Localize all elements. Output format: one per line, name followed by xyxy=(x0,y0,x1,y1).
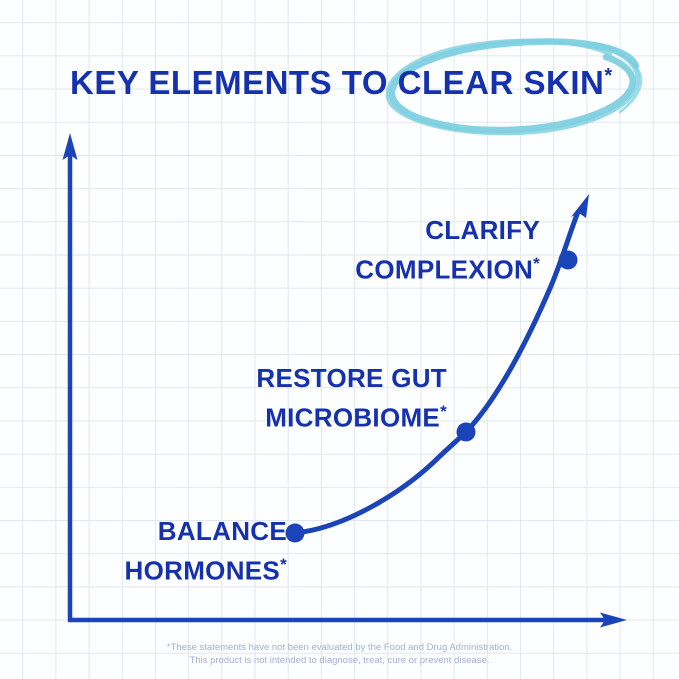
x-axis xyxy=(68,613,627,628)
data-label-balance-hormones: BALANCE HORMONES* xyxy=(125,515,287,588)
page-title: KEY ELEMENTS TO CLEAR SKIN* xyxy=(70,66,612,99)
data-label-hormones-asterisk: * xyxy=(280,555,287,574)
data-label-hormones-line2-wrap: HORMONES* xyxy=(125,548,287,588)
data-point-restore-gut xyxy=(457,423,476,442)
chart-title-text: KEY ELEMENTS TO CLEAR SKIN* xyxy=(70,66,612,99)
chart-title-asterisk: * xyxy=(604,65,612,87)
y-axis xyxy=(63,133,78,621)
footer-disclaimer-line1: *These statements have not been evaluate… xyxy=(0,641,679,654)
footer-disclaimer-line2: This product is not intended to diagnose… xyxy=(0,654,679,667)
data-label-clarify-line1: CLARIFY xyxy=(355,214,540,247)
data-label-clarify-line2: COMPLEXION xyxy=(355,255,533,285)
data-label-hormones-line1: BALANCE xyxy=(125,515,287,548)
data-point-balance-hormones xyxy=(286,524,305,543)
data-label-clarify-line2-wrap: COMPLEXION* xyxy=(355,247,540,287)
infographic-canvas: KEY ELEMENTS TO CLEAR SKIN* CLARIFY CO xyxy=(0,0,679,679)
data-label-microbiome-line1: RESTORE GUT xyxy=(256,362,447,395)
data-label-hormones-line2: HORMONES xyxy=(125,556,281,586)
data-label-restore-gut-microbiome: RESTORE GUT MICROBIOME* xyxy=(256,362,447,435)
chart-title-label: KEY ELEMENTS TO CLEAR SKIN xyxy=(70,64,604,101)
data-label-clarify-asterisk: * xyxy=(533,254,540,273)
data-label-microbiome-asterisk: * xyxy=(440,402,447,421)
chart-plot-area xyxy=(0,0,679,679)
data-label-clarify-complexion: CLARIFY COMPLEXION* xyxy=(355,214,540,287)
data-label-microbiome-line2: MICROBIOME xyxy=(265,403,440,433)
data-point-clarify-complexion xyxy=(559,251,578,270)
data-label-microbiome-line2-wrap: MICROBIOME* xyxy=(256,395,447,435)
footer-disclaimer: *These statements have not been evaluate… xyxy=(0,641,679,667)
